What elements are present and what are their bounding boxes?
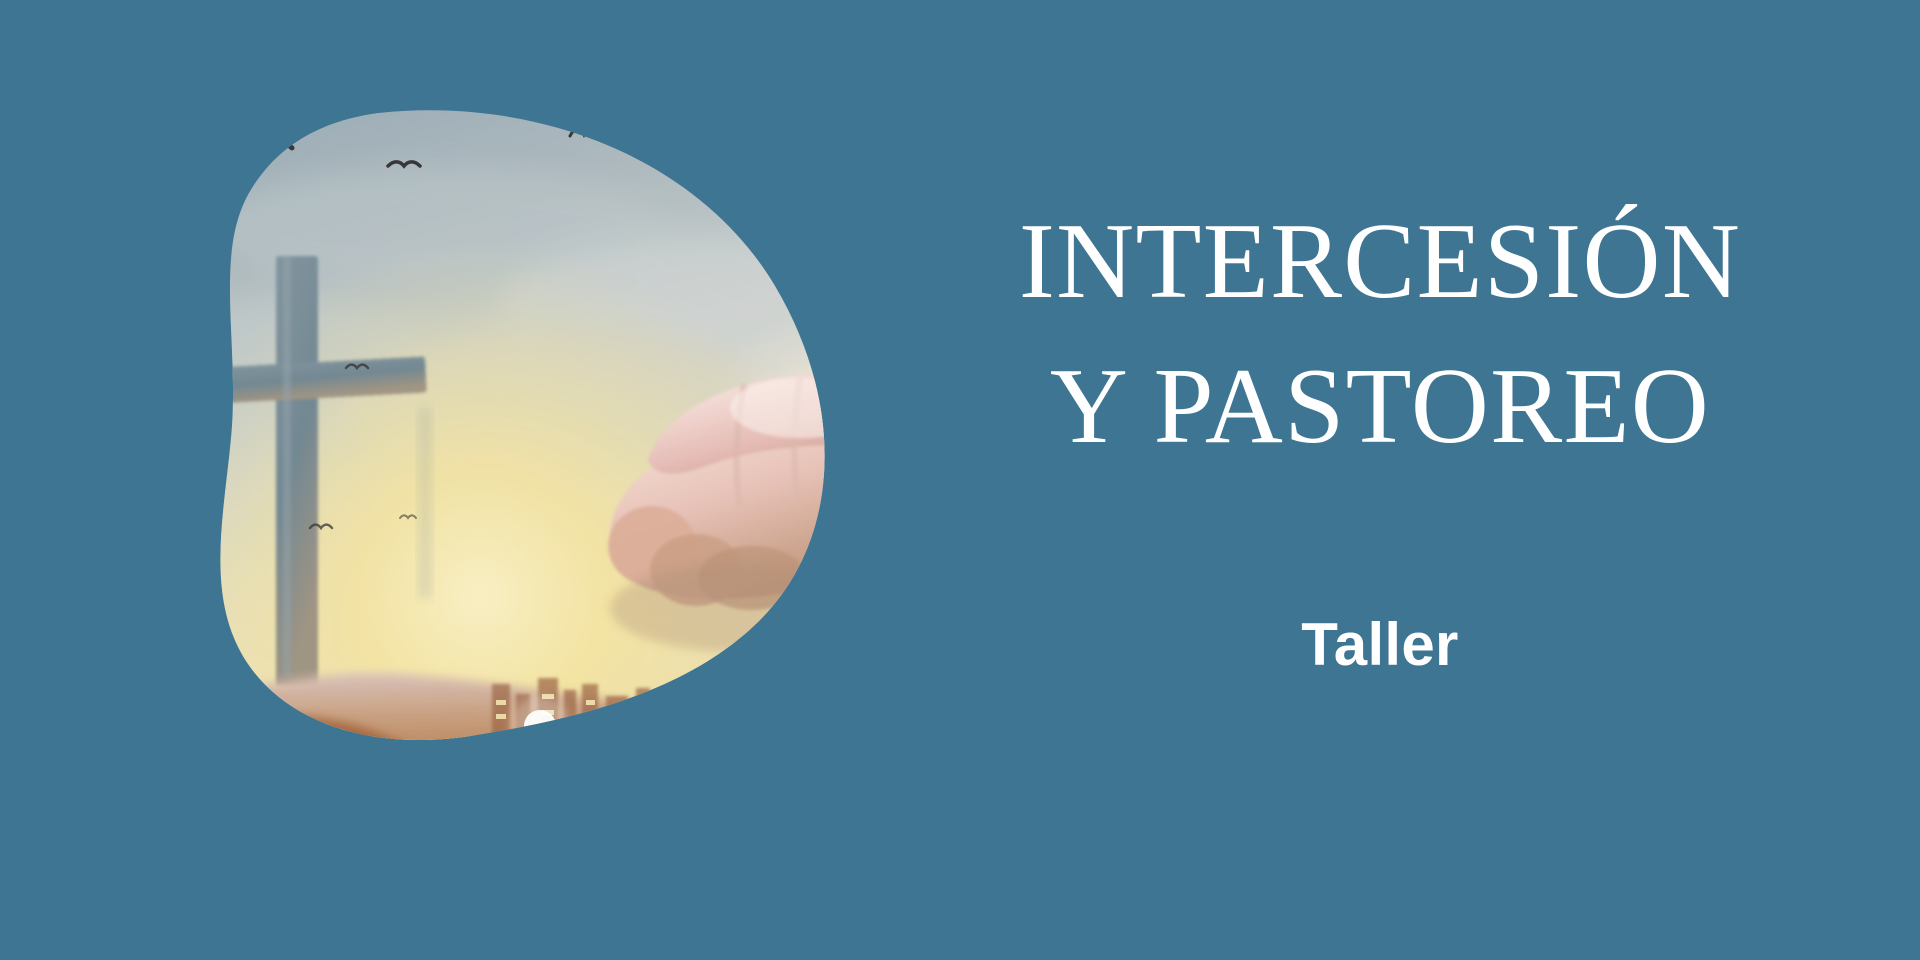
poster-canvas: INTERCESIÓN Y PASTOREO Taller xyxy=(0,0,1920,960)
headline-block: INTERCESIÓN Y PASTOREO Taller xyxy=(940,190,1820,675)
artwork-contents xyxy=(140,108,880,848)
artwork-blob xyxy=(140,108,880,848)
photo-haze xyxy=(140,108,880,848)
title-line-1: INTERCESIÓN xyxy=(940,190,1820,335)
title-line-2: Y PASTOREO xyxy=(940,335,1820,480)
subtitle-label: Taller xyxy=(940,615,1820,675)
artwork-blob-svg xyxy=(140,108,880,848)
